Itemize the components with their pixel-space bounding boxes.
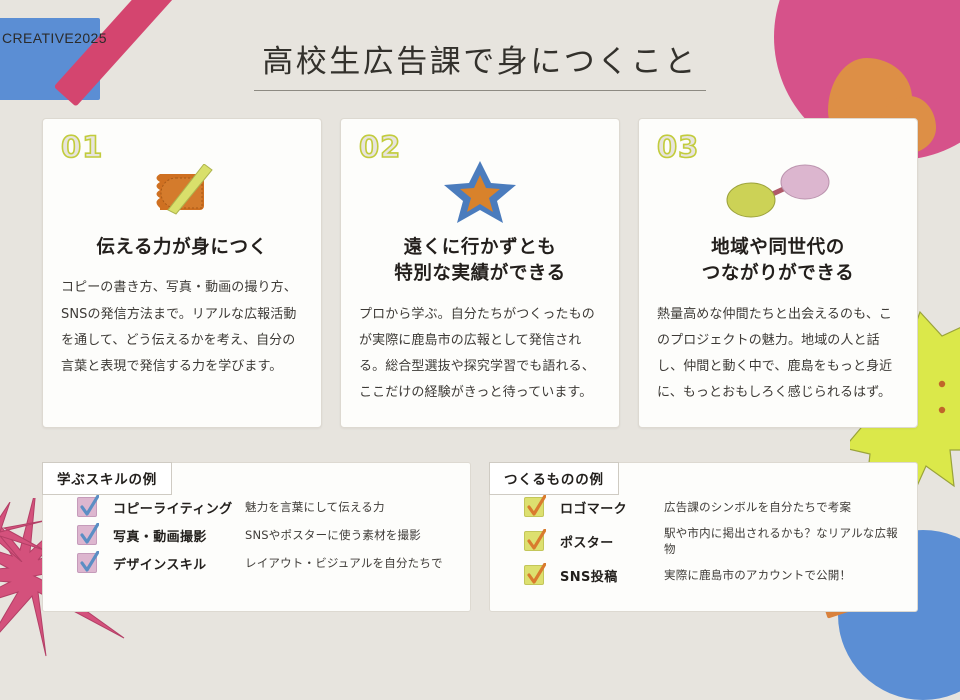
list-item[interactable]: デザインスキル レイアウト・ビジュアルを自分たちで <box>77 553 454 573</box>
list-item-label: コピーライティング <box>113 498 245 517</box>
checkbox-checked-icon[interactable] <box>524 497 544 517</box>
checkbox-checked-icon[interactable] <box>524 531 544 551</box>
page-title: 高校生広告課で身につくこと <box>254 36 706 91</box>
skills-list: コピーライティング 魅力を言葉にして伝える力 写真・動画撮影 SNSやポスターに… <box>59 493 454 573</box>
list-item-label: デザインスキル <box>113 554 245 573</box>
example-panels: 学ぶスキルの例 コピーライティング 魅力を言葉にして伝える力 写真・動画撮影 S… <box>42 462 918 612</box>
star-icon <box>359 161 601 223</box>
list-item[interactable]: ロゴマーク 広告課のシンボルを自分たちで考案 <box>524 497 901 517</box>
card-heading: 遠くに行かずとも 特別な実績ができる <box>359 235 601 288</box>
skills-panel-tab: 学ぶスキルの例 <box>42 462 172 495</box>
card-body: コピーの書き方、写真・動画の撮り方、SNSの発信方法まで。リアルな広報活動を通し… <box>61 275 303 380</box>
card-body: プロから学ぶ。自分たちがつくったものが実際に鹿島市の広報として発信される。総合型… <box>359 302 601 407</box>
deliverables-list: ロゴマーク 広告課のシンボルを自分たちで考案 ポスター 駅や市内に掲出されるかも… <box>506 493 901 585</box>
checkbox-checked-icon[interactable] <box>77 525 97 545</box>
list-item-label: SNS投稿 <box>560 566 664 585</box>
list-item-desc: 魅力を言葉にして伝える力 <box>245 499 385 515</box>
deliverables-panel-tab: つくるものの例 <box>489 462 619 495</box>
skills-panel: 学ぶスキルの例 コピーライティング 魅力を言葉にして伝える力 写真・動画撮影 S… <box>42 462 471 612</box>
list-item[interactable]: ポスター 駅や市内に掲出されるかも？なリアルな広報物 <box>524 525 901 557</box>
checkbox-checked-icon[interactable] <box>77 497 97 517</box>
page-title-wrapper: 高校生広告課で身につくこと <box>0 36 960 91</box>
list-item-label: ロゴマーク <box>560 498 664 517</box>
card-heading: 地域や同世代の つながりができる <box>657 235 899 288</box>
benefit-card-3: 03 地域や同世代の つながりができる 熱量高めな仲間たちと出会えるのも、このプ… <box>638 118 918 428</box>
benefit-card-1: 01 伝える力が身につく コピーの書き方、写真・動画の撮り方、SNSの発信方法ま… <box>42 118 322 428</box>
notebook-pencil-icon <box>61 161 303 223</box>
list-item-desc: SNSやポスターに使う素材を撮影 <box>245 527 421 543</box>
benefit-cards: 01 伝える力が身につく コピーの書き方、写真・動画の撮り方、SNSの発信方法ま… <box>42 118 918 428</box>
list-item[interactable]: コピーライティング 魅力を言葉にして伝える力 <box>77 497 454 517</box>
list-item-desc: 駅や市内に掲出されるかも？なリアルな広報物 <box>664 525 901 557</box>
list-item[interactable]: 写真・動画撮影 SNSやポスターに使う素材を撮影 <box>77 525 454 545</box>
card-heading: 伝える力が身につく <box>61 235 303 261</box>
list-item-label: 写真・動画撮影 <box>113 526 245 545</box>
connected-nodes-icon <box>657 161 899 223</box>
deliverables-panel: つくるものの例 ロゴマーク 広告課のシンボルを自分たちで考案 ポスター 駅や市内… <box>489 462 918 612</box>
card-body: 熱量高めな仲間たちと出会えるのも、このプロジェクトの魅力。地域の人と話し、仲間と… <box>657 302 899 407</box>
checkbox-checked-icon[interactable] <box>524 565 544 585</box>
list-item-desc: 実際に鹿島市のアカウントで公開！ <box>664 567 851 583</box>
list-item-label: ポスター <box>560 532 664 551</box>
list-item-desc: レイアウト・ビジュアルを自分たちで <box>245 555 443 571</box>
benefit-card-2: 02 遠くに行かずとも 特別な実績ができる プロから学ぶ。自分たちがつくったもの… <box>340 118 620 428</box>
checkbox-checked-icon[interactable] <box>77 553 97 573</box>
list-item[interactable]: SNS投稿 実際に鹿島市のアカウントで公開！ <box>524 565 901 585</box>
list-item-desc: 広告課のシンボルを自分たちで考案 <box>664 499 851 515</box>
